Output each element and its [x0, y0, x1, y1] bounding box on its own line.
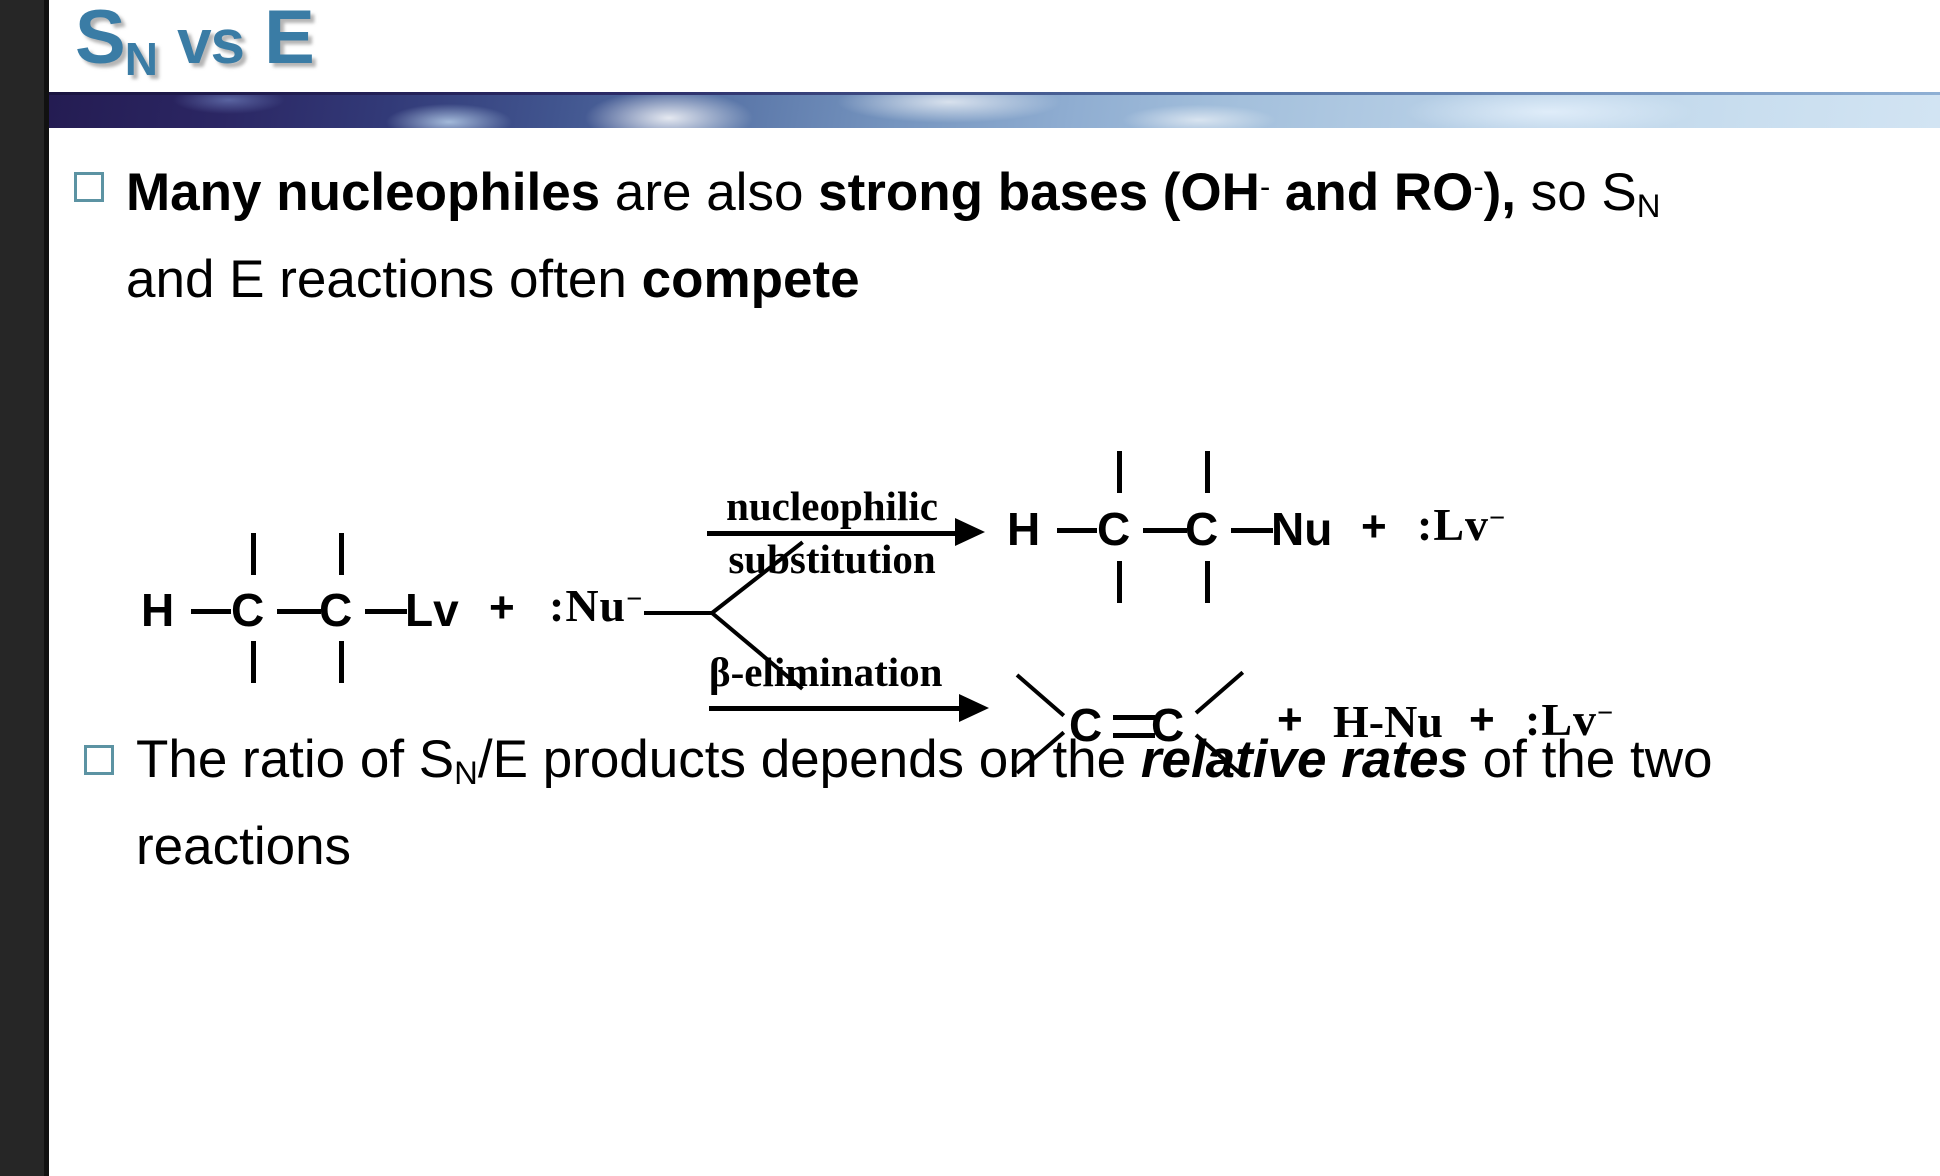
b1-seg-3-charge: -: [1260, 169, 1270, 204]
bond-c2-down: [339, 641, 344, 683]
list-item: The ratio of SN/E products depends on th…: [84, 723, 1756, 884]
b1-seg-4: and RO: [1270, 163, 1473, 222]
b2-seg-2: /E products depends on the: [478, 730, 1141, 789]
reactant-atom-c1: C: [231, 583, 264, 637]
left-edge-accent-line: [44, 0, 49, 1176]
b1-seg-0: Many nucleophiles: [126, 163, 600, 222]
sub-product-atom-c2: C: [1185, 502, 1218, 556]
sub-product-atom-h: H: [1007, 502, 1040, 556]
elimination-label: β-elimination: [709, 648, 979, 696]
decorative-cloud-banner: [49, 92, 1940, 128]
title-area: SN vs E: [49, 0, 1940, 92]
sub-bond-h-c1: [1057, 528, 1097, 533]
alkene-bond-upper-right: [1195, 671, 1244, 715]
hollow-square-bullet-icon: [74, 172, 104, 202]
reaction-scheme-diagram: H C C Lv + :Nu− nucleophilic s: [79, 343, 1909, 663]
reactant-atom-h: H: [141, 583, 174, 637]
b1-seg-7: so S: [1516, 163, 1637, 222]
b1-seg-10: compete: [642, 250, 860, 309]
bond-c2-lv: [365, 609, 407, 614]
sub-bond-c2-up: [1205, 451, 1210, 493]
alkene-double-bond-line-1: [1113, 715, 1155, 720]
title-subscript-n: N: [125, 33, 157, 85]
elimination-arrow-head: [959, 694, 989, 722]
bond-c1-up: [251, 533, 256, 575]
alkene-bond-upper-left: [1016, 673, 1065, 717]
bullet-1-text: Many nucleophiles are also strong bases …: [126, 150, 1746, 317]
sub-bond-c1-down: [1117, 561, 1122, 603]
b1-seg-9: and E reactions often: [126, 250, 642, 309]
sub-bond-c1-c2: [1143, 528, 1187, 533]
substitution-label-line-1: nucleophilic: [707, 482, 957, 530]
banner-top-edge: [49, 92, 1940, 95]
b1-seg-5-charge: -: [1473, 169, 1483, 204]
fork-stem: [644, 611, 714, 615]
b2-seg-0: The ratio of S: [136, 730, 454, 789]
sub-bond-c2-down: [1205, 561, 1210, 603]
b1-seg-6: ),: [1484, 163, 1516, 222]
b2-seg-1-subscript: N: [454, 754, 478, 791]
reactant-plus-sign: +: [489, 583, 515, 633]
sub-product-atom-c1: C: [1097, 502, 1130, 556]
title-main-e: E: [264, 0, 314, 80]
bullet-2-text: The ratio of SN/E products depends on th…: [136, 723, 1756, 884]
sub-product-byproduct: :Lv−: [1417, 498, 1506, 551]
substitution-label-line-2: substitution: [707, 535, 957, 583]
reactant-atom-c2: C: [319, 583, 352, 637]
sub-product-nucleophile: Nu: [1271, 502, 1332, 556]
b2-seg-3-emphasis: relative rates: [1141, 730, 1468, 789]
b1-seg-1: are also: [600, 163, 818, 222]
hollow-square-bullet-icon: [84, 745, 114, 775]
list-item: Many nucleophiles are also strong bases …: [74, 150, 1746, 317]
bond-c2-up: [339, 533, 344, 575]
bond-c1-down: [251, 641, 256, 683]
bond-h-c1: [191, 609, 231, 614]
title-vs: vs: [177, 8, 244, 77]
slide-body: Many nucleophiles are also strong bases …: [49, 128, 1940, 1176]
page-title: SN vs E: [75, 0, 314, 86]
b1-seg-2: strong bases (OH: [818, 163, 1260, 222]
nucleophile-charge: −: [626, 584, 643, 615]
left-edge-bar: [0, 0, 44, 1176]
bond-c1-c2: [277, 609, 321, 614]
reactant-leaving-group: Lv: [405, 583, 459, 637]
title-main-s: S: [75, 0, 125, 80]
substitution-arrow-head: [955, 518, 985, 546]
sub-product-plus-sign: +: [1361, 502, 1387, 552]
sub-bond-c2-nu: [1231, 528, 1273, 533]
elimination-arrow-shaft: [709, 706, 961, 711]
b1-seg-8-subscript: N: [1637, 187, 1661, 224]
reactant-nucleophile: :Nu−: [549, 579, 643, 632]
sub-byproduct-charge: −: [1489, 503, 1506, 534]
sub-bond-c1-up: [1117, 451, 1122, 493]
